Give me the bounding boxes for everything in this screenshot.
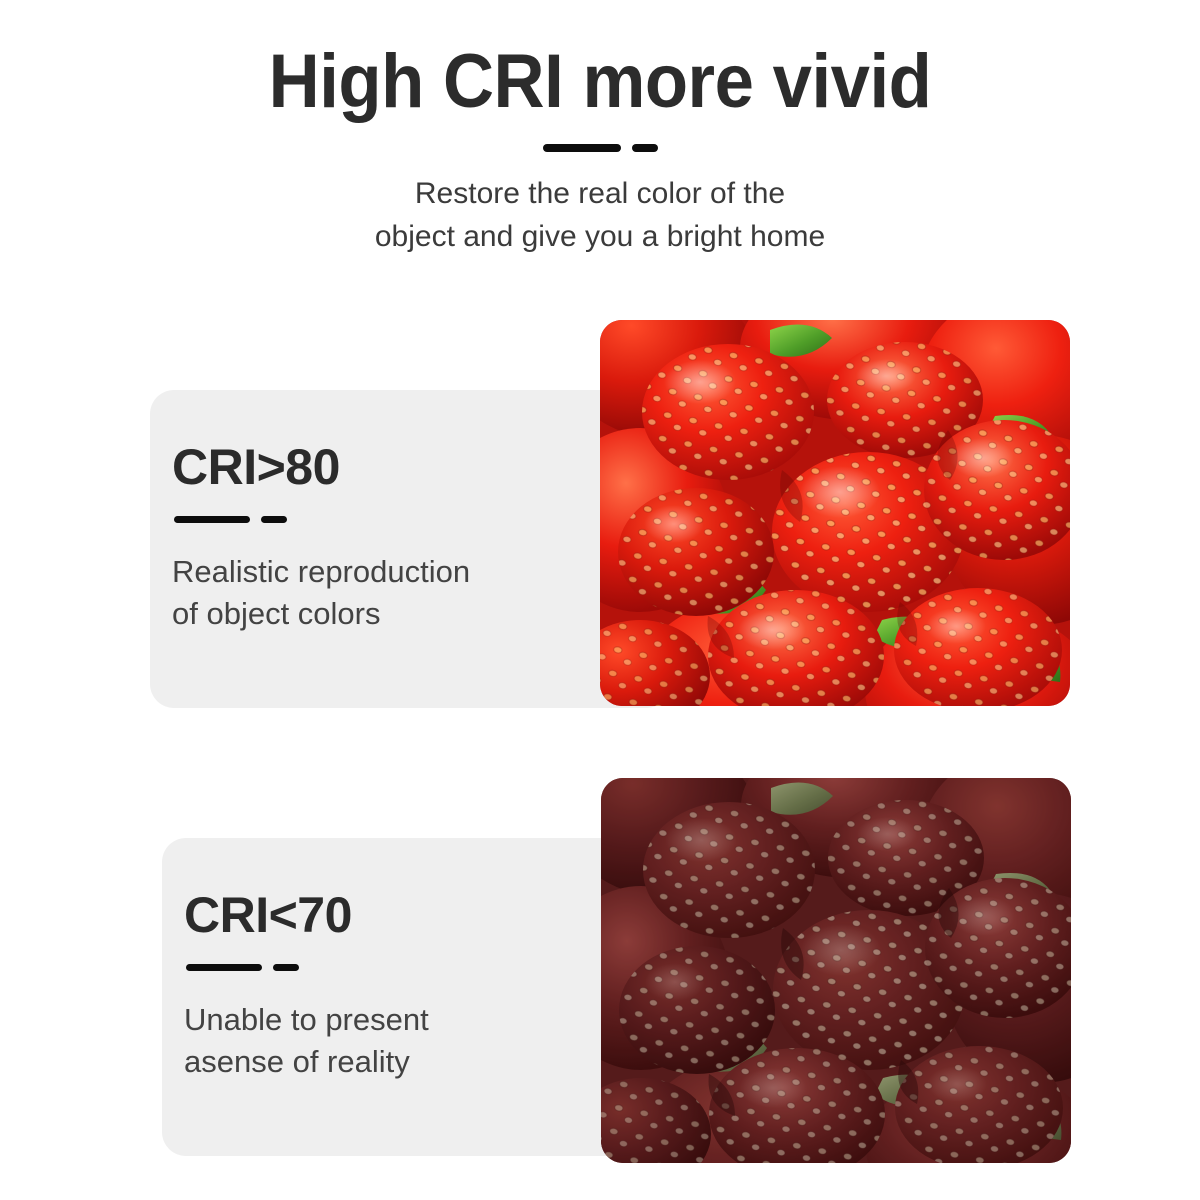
comparison-row-low-cri: CRI<70 Unable to present asense of reali… <box>0 778 1200 1163</box>
card-title-high-cri: CRI>80 <box>172 442 670 492</box>
infographic-page: High CRI more vivid Restore the real col… <box>0 0 1200 1200</box>
card-body-line-2: of object colors <box>172 593 670 635</box>
page-subtitle: Restore the real color of the object and… <box>0 172 1200 259</box>
info-card-high-cri: CRI>80 Realistic reproduction of object … <box>150 390 670 708</box>
dash-short-icon <box>632 144 658 152</box>
dash-long-icon <box>186 964 262 971</box>
page-title: High CRI more vivid <box>42 42 1158 122</box>
dash-long-icon <box>174 516 250 523</box>
dash-long-icon <box>543 144 621 152</box>
comparison-row-high-cri: CRI>80 Realistic reproduction of object … <box>0 320 1200 710</box>
dash-divider-icon <box>174 516 670 523</box>
subtitle-line-2: object and give you a bright home <box>0 215 1200 259</box>
dash-short-icon <box>261 516 287 523</box>
dash-divider-icon <box>0 144 1200 152</box>
header: High CRI more vivid Restore the real col… <box>0 0 1200 259</box>
card-body-line-1: Realistic reproduction <box>172 551 670 593</box>
subtitle-line-1: Restore the real color of the <box>0 172 1200 216</box>
strawberries-high-cri-photo <box>600 320 1070 706</box>
dash-short-icon <box>273 964 299 971</box>
card-body-high-cri: Realistic reproduction of object colors <box>172 551 670 635</box>
strawberries-low-cri-photo <box>601 778 1071 1163</box>
